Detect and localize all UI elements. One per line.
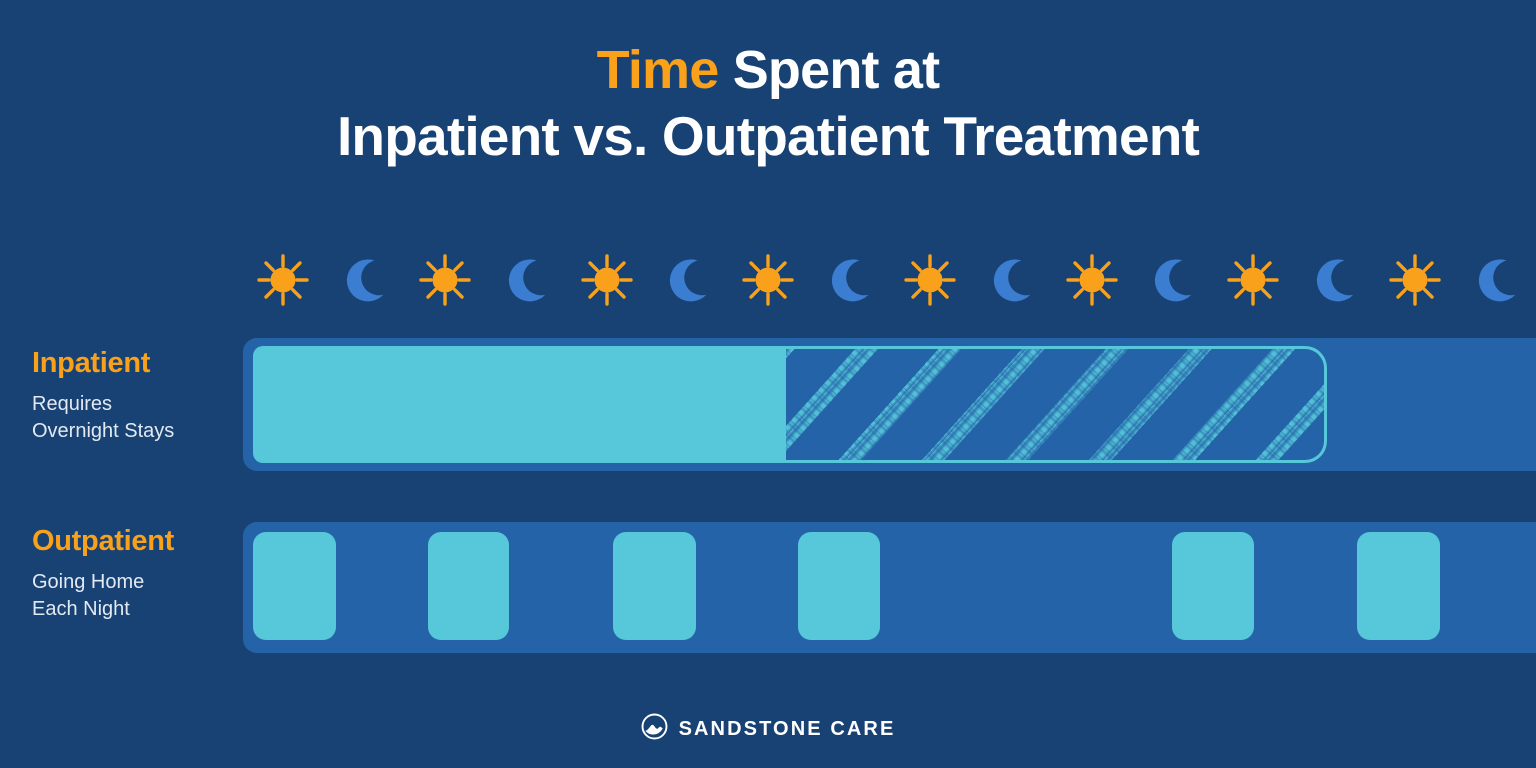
moon-icon (970, 240, 1051, 320)
page-title: Time Spent at Inpatient vs. Outpatient T… (0, 42, 1536, 166)
outpatient-label-subtitle: Going Home Each Night (32, 569, 242, 624)
moon-icon (647, 240, 728, 320)
hatch-texture-overlay (786, 346, 1327, 463)
outpatient-block (1172, 532, 1254, 640)
sun-icon (728, 240, 809, 320)
moon-icon (485, 240, 566, 320)
outpatient-block (253, 532, 336, 640)
moon-icon (1132, 240, 1213, 320)
outpatient-label-title: Outpatient (32, 526, 242, 558)
outpatient-block (1357, 532, 1440, 640)
sun-icon (405, 240, 486, 320)
moon-icon (1455, 240, 1536, 320)
outpatient-block (798, 532, 880, 640)
day-night-timeline (243, 240, 1536, 320)
outpatient-subtitle-line-2: Each Night (32, 596, 242, 624)
outpatient-row-label: Outpatient Going Home Each Night (32, 526, 242, 624)
inpatient-row-label: Inpatient Requires Overnight Stays (32, 348, 242, 446)
inpatient-bar-solid-segment (253, 346, 786, 463)
inpatient-label-subtitle: Requires Overnight Stays (32, 391, 242, 446)
sun-icon (566, 240, 647, 320)
moon-icon (809, 240, 890, 320)
sun-icon (243, 240, 324, 320)
title-accent-word: Time (597, 40, 719, 100)
footer-brand: SANDSTONE CARE (0, 713, 1536, 745)
outpatient-block (428, 532, 509, 640)
mountain-circle-logo-icon (641, 713, 668, 745)
sun-icon (1051, 240, 1132, 320)
moon-icon (1294, 240, 1375, 320)
outpatient-block (613, 532, 696, 640)
inpatient-bar-hatched-segment (786, 346, 1327, 463)
infographic-canvas: Time Spent at Inpatient vs. Outpatient T… (0, 0, 1536, 768)
inpatient-subtitle-line-1: Requires (32, 391, 242, 419)
title-line-1-rest: Spent at (719, 40, 940, 100)
inpatient-label-title: Inpatient (32, 348, 242, 380)
brand-name: SANDSTONE CARE (679, 718, 896, 741)
moon-icon (324, 240, 405, 320)
inpatient-subtitle-line-2: Overnight Stays (32, 418, 242, 446)
title-line-1: Time Spent at (0, 42, 1536, 99)
sun-icon (890, 240, 971, 320)
sun-icon (1213, 240, 1294, 320)
title-line-2: Inpatient vs. Outpatient Treatment (0, 107, 1536, 165)
outpatient-subtitle-line-1: Going Home (32, 569, 242, 597)
sun-icon (1374, 240, 1455, 320)
